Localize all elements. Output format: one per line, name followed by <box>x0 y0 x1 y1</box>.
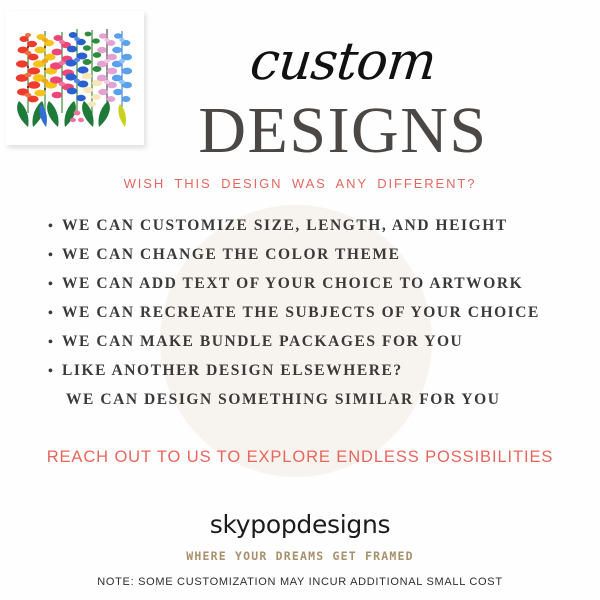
bullet-icon: • <box>48 336 62 350</box>
list-item-label: WE CAN CHANGE THE COLOR THEME <box>62 246 401 264</box>
list-item-label: WE CAN MAKE BUNDLE PACKAGES FOR YOU <box>62 333 463 351</box>
bullet-icon: • <box>48 365 62 379</box>
subtitle-question: WISH THIS DESIGN WAS ANY DIFFERENT? <box>0 176 600 191</box>
script-heading-custom: custom <box>0 36 600 88</box>
bullet-icon: • <box>48 249 62 263</box>
list-item-label: LIKE ANOTHER DESIGN ELSEWHERE? <box>62 362 403 380</box>
list-item: • WE CAN CUSTOMIZE SIZE, LENGTH, AND HEI… <box>48 217 593 246</box>
list-item-label: WE CAN CUSTOMIZE SIZE, LENGTH, AND HEIGH… <box>62 217 508 235</box>
call-to-action-text: REACH OUT TO US TO EXPLORE ENDLESS POSSI… <box>0 448 600 467</box>
brand-tagline: WHERE YOUR DREAMS GET FRAMED <box>0 549 600 563</box>
list-item: • WE CAN CHANGE THE COLOR THEME <box>48 246 593 275</box>
list-item: • WE CAN MAKE BUNDLE PACKAGES FOR YOU <box>48 333 593 362</box>
page-title-designs: DESIGNS <box>0 98 600 164</box>
footnote-disclaimer: NOTE: SOME CUSTOMIZATION MAY INCUR ADDIT… <box>0 576 600 588</box>
bullet-icon: • <box>48 307 62 321</box>
list-item-label: WE CAN ADD TEXT OF YOUR CHOICE TO ARTWOR… <box>62 275 523 293</box>
benefits-list: • WE CAN CUSTOMIZE SIZE, LENGTH, AND HEI… <box>48 217 593 420</box>
list-item-continuation: • WE CAN DESIGN SOMETHING SIMILAR FOR YO… <box>48 391 593 420</box>
brand-name: skypopdesigns <box>0 510 600 539</box>
list-item: • LIKE ANOTHER DESIGN ELSEWHERE? <box>48 362 593 391</box>
bullet-icon: • <box>48 220 62 234</box>
list-item: • WE CAN ADD TEXT OF YOUR CHOICE TO ARTW… <box>48 275 593 304</box>
list-item-label: WE CAN DESIGN SOMETHING SIMILAR FOR YOU <box>62 391 501 409</box>
custom-designs-poster: custom DESIGNS WISH THIS DESIGN WAS ANY … <box>0 0 600 600</box>
list-item-label: WE CAN RECREATE THE SUBJECTS OF YOUR CHO… <box>62 304 540 322</box>
list-item: • WE CAN RECREATE THE SUBJECTS OF YOUR C… <box>48 304 593 333</box>
bullet-icon: • <box>48 278 62 292</box>
